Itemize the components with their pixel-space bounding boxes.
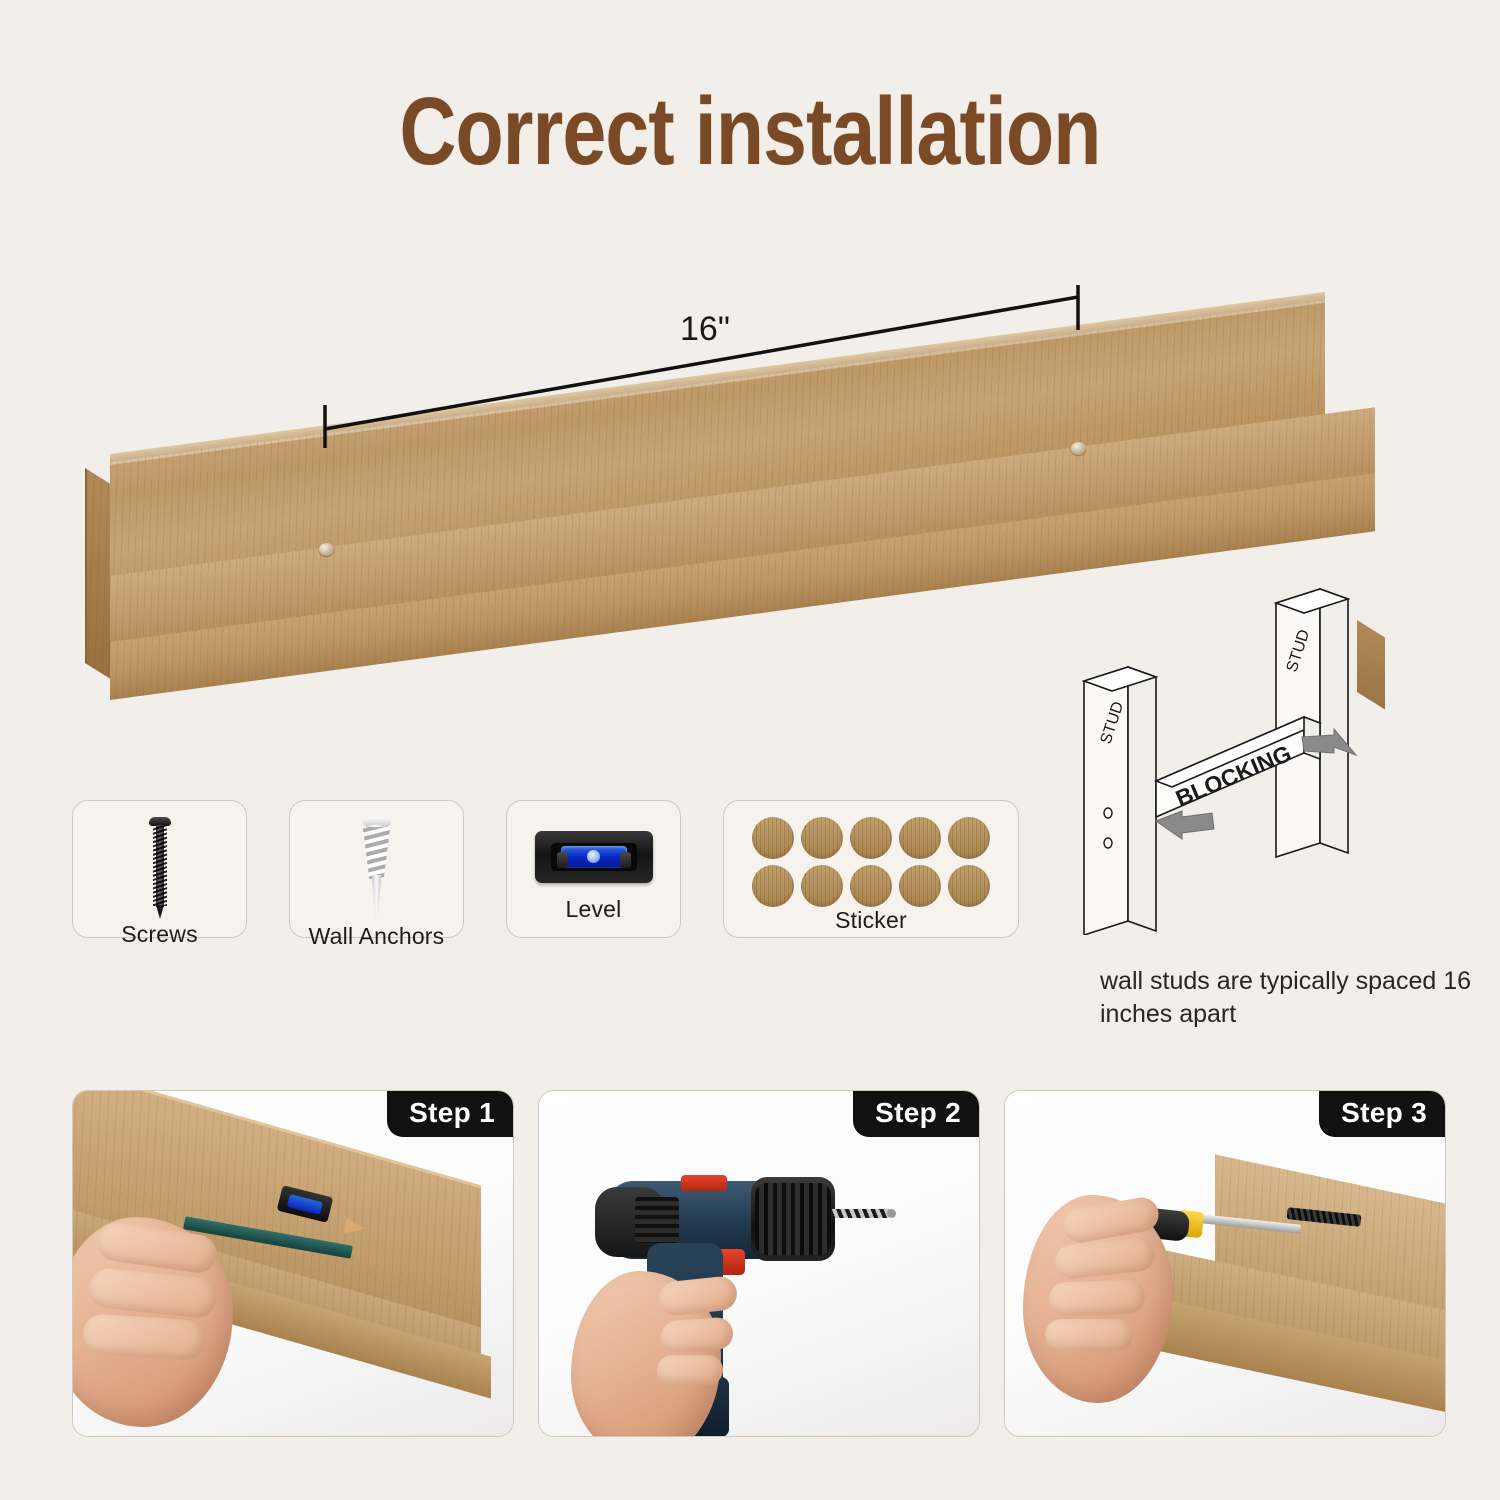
step-badge: Step 3 — [1319, 1091, 1445, 1137]
part-card-wall-anchors[interactable]: Wall Anchors — [289, 800, 464, 938]
part-label: Sticker — [835, 907, 907, 934]
step-card-2[interactable]: Step 2 — [538, 1090, 980, 1437]
part-label: Wall Anchors — [309, 923, 445, 950]
sticker-dot — [752, 865, 794, 907]
step-card-1[interactable]: Step 1 — [72, 1090, 514, 1437]
bubble-level-icon — [507, 817, 680, 896]
wood-sticker-icon — [724, 817, 1018, 907]
sticker-dot — [850, 817, 892, 859]
sticker-dot — [948, 817, 990, 859]
drill-chuck-ribs — [755, 1183, 831, 1255]
step-3-photo — [1005, 1091, 1445, 1436]
included-parts-row: Screws Wall Anchors — [72, 800, 1019, 938]
step-card-3[interactable]: Step 3 — [1004, 1090, 1446, 1437]
part-card-screws[interactable]: Screws — [72, 800, 247, 938]
dimension-label: 16" — [680, 310, 730, 349]
drill-forward-reverse-button — [681, 1175, 727, 1191]
drill-vents — [635, 1197, 679, 1243]
step-2-photo — [539, 1091, 979, 1436]
arrow-lower-left — [1156, 811, 1214, 839]
finger — [660, 1317, 734, 1354]
stud-caption: wall studs are typically spaced 16 inche… — [1100, 965, 1480, 1031]
step-badge: Step 2 — [853, 1091, 979, 1137]
sticker-dot — [899, 817, 941, 859]
page-title: Correct installation — [135, 84, 1365, 180]
part-label: Screws — [121, 921, 198, 948]
part-card-sticker[interactable]: Sticker — [723, 800, 1019, 938]
sticker-dot — [899, 865, 941, 907]
finger — [82, 1313, 206, 1361]
finger — [1045, 1319, 1133, 1351]
stud-left: STUD — [1084, 667, 1156, 935]
part-card-level[interactable]: Level — [506, 800, 681, 938]
sticker-dot — [801, 865, 843, 907]
screw-icon — [73, 817, 246, 921]
stud-blocking-diagram: STUD STUD BLOCKING — [1060, 585, 1460, 935]
finger — [1048, 1279, 1145, 1316]
mounting-hole — [1071, 442, 1086, 455]
wall-anchor-icon — [290, 817, 463, 923]
installation-steps-row: Step 1 Step 2 — [72, 1090, 1446, 1437]
drill-bit-icon — [831, 1209, 889, 1218]
finger — [657, 1355, 723, 1385]
step-1-photo — [73, 1091, 513, 1436]
part-label: Level — [566, 896, 622, 923]
sticker-dot — [850, 865, 892, 907]
pencil-tip-icon — [344, 1217, 366, 1236]
mounting-hole — [319, 543, 334, 556]
sticker-dot — [752, 817, 794, 859]
sticker-dot — [948, 865, 990, 907]
sticker-dot — [801, 817, 843, 859]
drill-hole — [887, 1209, 896, 1218]
step-badge: Step 1 — [387, 1091, 513, 1137]
